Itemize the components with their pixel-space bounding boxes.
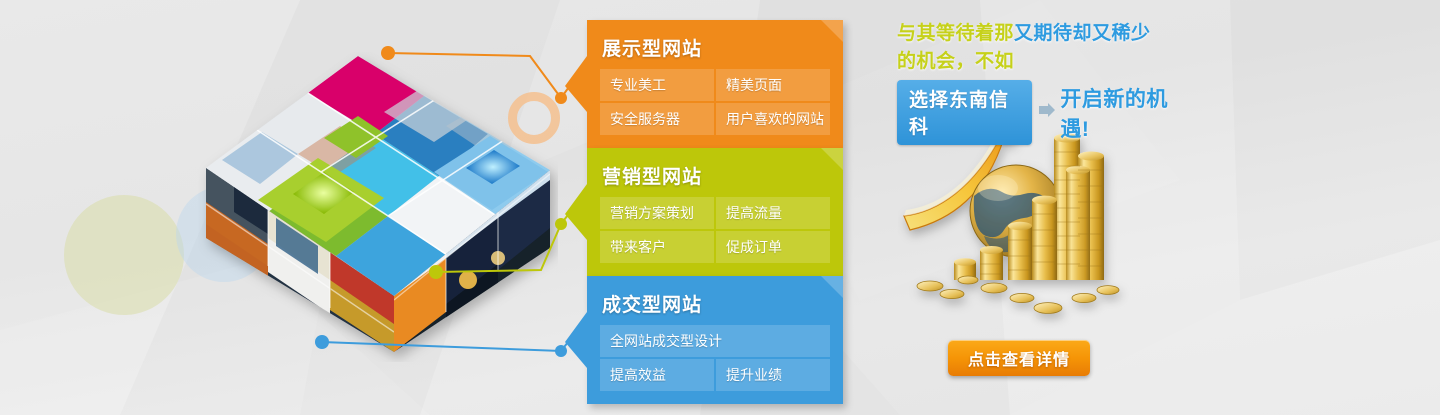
card-row: 带来客户 促成订单 (600, 231, 830, 263)
card-title: 营销型网站 (602, 162, 830, 189)
headline-line-1-blue: 又期待却又稀少 (1014, 23, 1151, 44)
card-cell[interactable]: 精美页面 (716, 69, 830, 101)
card-showcase-website[interactable]: 展示型网站 专业美工 精美页面 安全服务器 用户喜欢的网站 (587, 20, 843, 148)
card-feature-rows: 全网站成交型设计 提高效益 提升业绩 (600, 325, 830, 391)
view-details-button[interactable]: 点击查看详情 (948, 340, 1090, 376)
card-cell[interactable]: 带来客户 (600, 231, 714, 263)
card-row: 全网站成交型设计 (600, 325, 830, 357)
card-notch-icon (565, 312, 587, 368)
card-cell[interactable]: 全网站成交型设计 (600, 325, 830, 357)
card-row: 营销方案策划 提高流量 (600, 197, 830, 229)
card-title: 成交型网站 (602, 290, 830, 317)
card-cell[interactable]: 营销方案策划 (600, 197, 714, 229)
headline-line-2: 的机会，不如 (897, 48, 1187, 76)
card-cell[interactable]: 提高流量 (716, 197, 830, 229)
brand-badge[interactable]: 选择东南信科 (897, 80, 1032, 145)
headline-line-1: 与其等待着那又期待却又稀少 (897, 20, 1187, 48)
card-row: 提高效益 提升业绩 (600, 359, 830, 391)
card-conversion-website[interactable]: 成交型网站 全网站成交型设计 提高效益 提升业绩 (587, 276, 843, 404)
headline-line-3: 选择东南信科 开启新的机遇! (897, 80, 1187, 145)
card-cell[interactable]: 安全服务器 (600, 103, 714, 135)
card-feature-rows: 营销方案策划 提高流量 带来客户 促成订单 (600, 197, 830, 263)
headline-copy: 与其等待着那又期待却又稀少 的机会，不如 选择东南信科 开启新的机遇! (897, 20, 1187, 145)
card-cell[interactable]: 提升业绩 (716, 359, 830, 391)
card-cell[interactable]: 用户喜欢的网站 (716, 103, 830, 135)
card-notch-icon (565, 56, 587, 112)
headline-tail: 开启新的机遇! (1060, 83, 1187, 143)
card-marketing-website[interactable]: 营销型网站 营销方案策划 提高流量 带来客户 促成订单 (587, 148, 843, 276)
card-cell[interactable]: 促成订单 (716, 231, 830, 263)
card-title: 展示型网站 (602, 34, 830, 61)
card-notch-icon (565, 184, 587, 240)
card-cell[interactable]: 提高效益 (600, 359, 714, 391)
promo-banner: 展示型网站 专业美工 精美页面 安全服务器 用户喜欢的网站 营销型网站 (0, 0, 1440, 415)
arrow-right-icon (1039, 103, 1055, 122)
card-cell[interactable]: 专业美工 (600, 69, 714, 101)
card-row: 专业美工 精美页面 (600, 69, 830, 101)
headline-line-1-green: 与其等待着那 (897, 23, 1014, 44)
card-row: 安全服务器 用户喜欢的网站 (600, 103, 830, 135)
card-feature-rows: 专业美工 精美页面 安全服务器 用户喜欢的网站 (600, 69, 830, 135)
